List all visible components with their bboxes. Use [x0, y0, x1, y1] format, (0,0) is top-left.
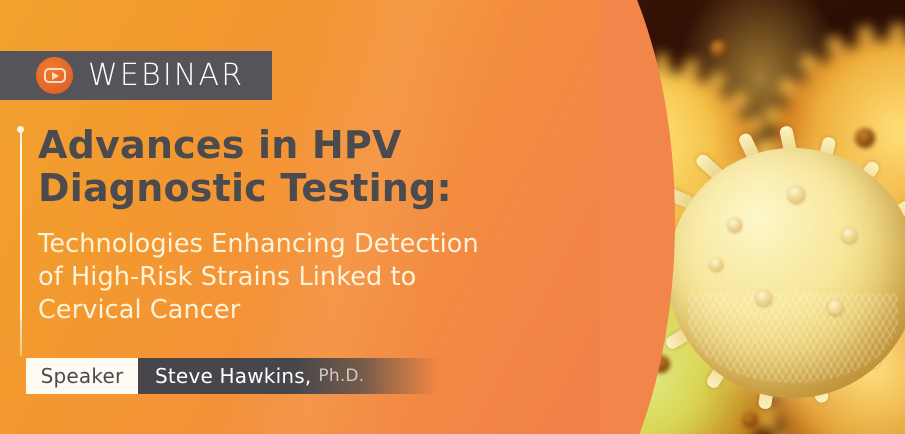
accent-line [20, 131, 22, 356]
play-triangle-icon [52, 72, 59, 80]
virus-artwork-panel [560, 0, 905, 434]
speaker-label: Speaker [41, 366, 124, 386]
virus-speck [710, 40, 728, 58]
title-line-2: Diagnostic Testing: [38, 167, 558, 210]
speaker-full-name: Steve Hawkins, [155, 366, 311, 386]
video-play-icon [36, 57, 73, 94]
page-title: Advances in HPV Diagnostic Testing: [38, 124, 558, 210]
virus-speck [855, 128, 875, 148]
play-icon-frame [44, 68, 66, 83]
speaker-label-box: Speaker [26, 358, 138, 394]
subtitle-line-1: Technologies Enhancing Detection [38, 228, 568, 261]
webinar-badge-label: WEBINAR [88, 61, 244, 91]
webinar-badge: WEBINAR [0, 51, 272, 100]
title-line-1: Advances in HPV [38, 124, 558, 167]
subtitle-line-2: of High-Risk Strains Linked to [38, 261, 568, 294]
subtitle-line-3: Cervical Cancer [38, 294, 568, 327]
virus-speck [742, 412, 758, 428]
page-subtitle: Technologies Enhancing Detection of High… [38, 228, 568, 327]
webinar-promo-banner: WEBINAR Advances in HPV Diagnostic Testi… [0, 0, 905, 434]
speaker-name: Steve Hawkins, Ph.D. [155, 358, 364, 394]
speaker-degree: Ph.D. [318, 368, 364, 385]
